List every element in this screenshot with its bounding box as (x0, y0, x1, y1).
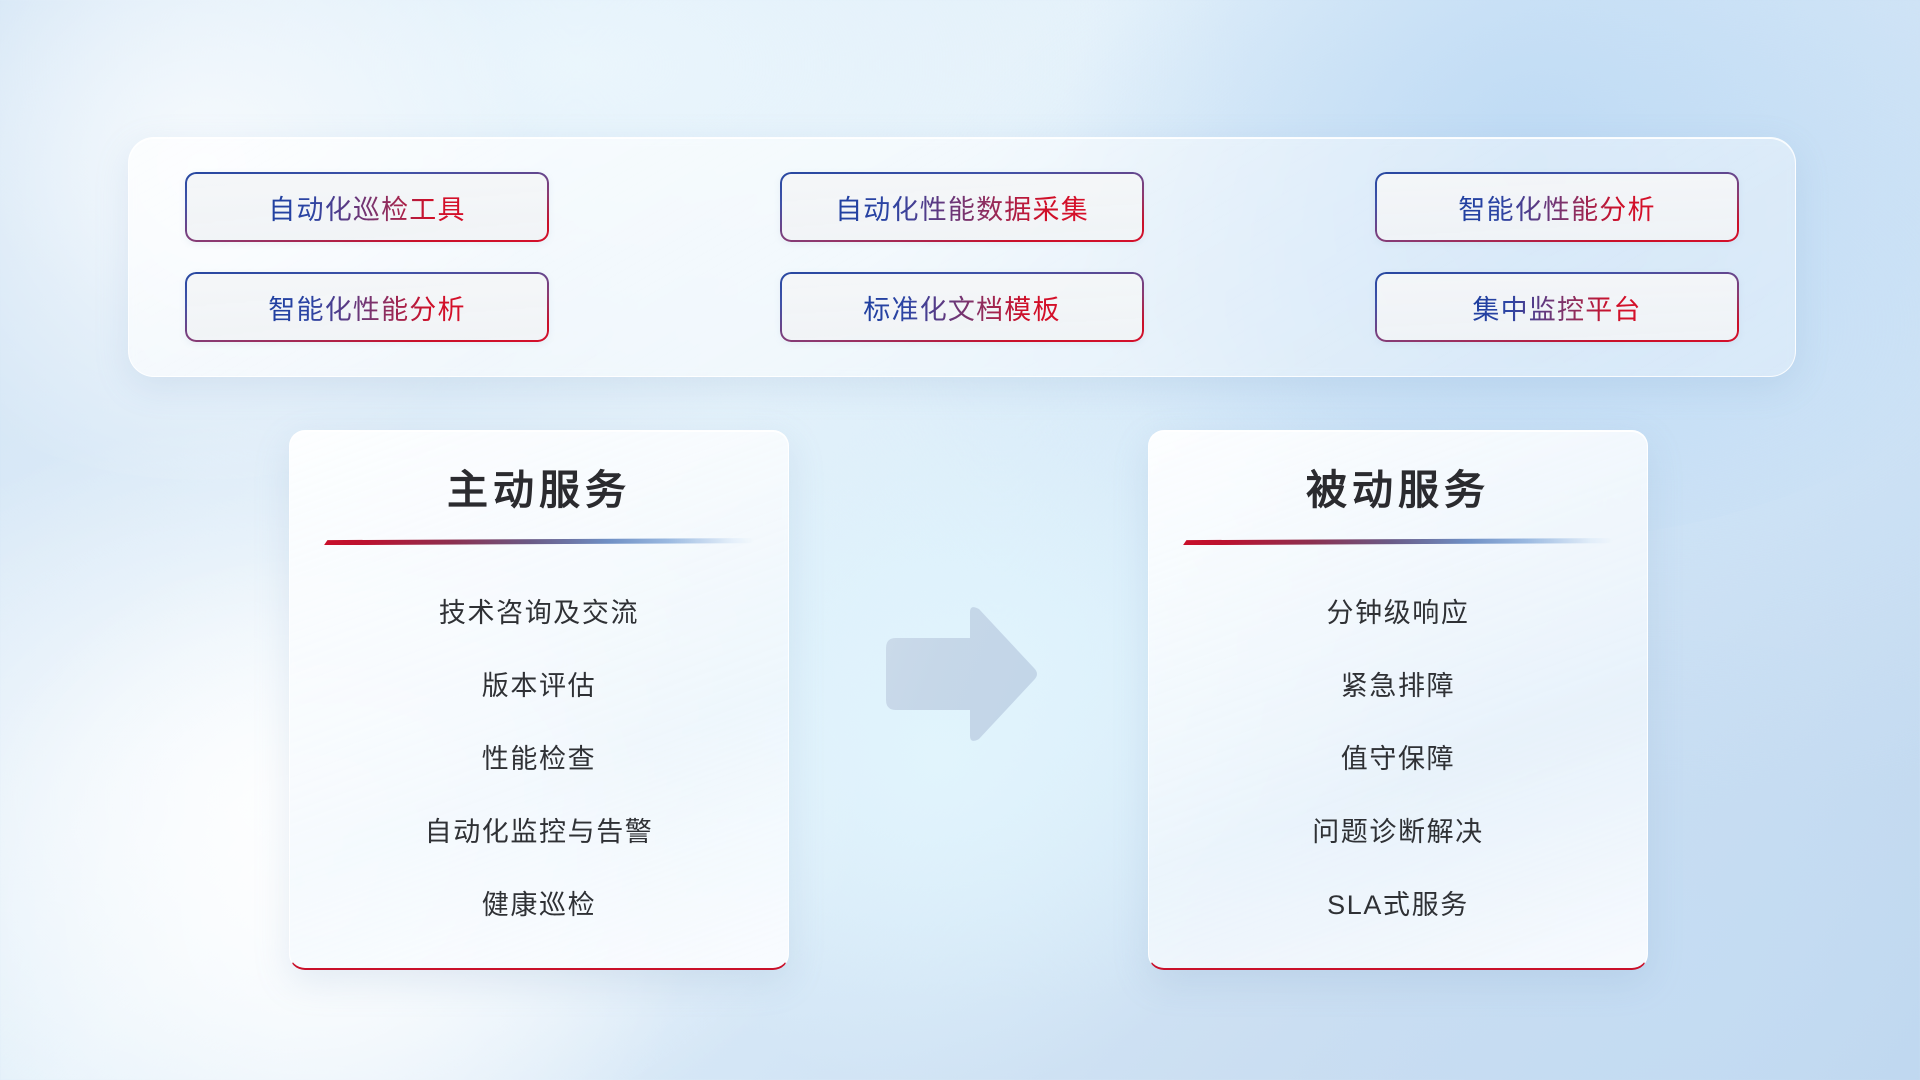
capability-tags-panel: 自动化巡检工具 自动化性能数据采集 智能化性能分析 智能化性能分析 标准化文档模… (128, 137, 1796, 377)
capability-tag-label: 自动化性能数据采集 (835, 188, 1089, 227)
capability-tag-standardized-document-template[interactable]: 标准化文档模板 (780, 272, 1144, 342)
service-list-item[interactable]: 健康巡检 (482, 869, 596, 942)
capability-tag-intelligent-performance-analysis[interactable]: 智能化性能分析 (1375, 172, 1739, 242)
service-list-item[interactable]: 版本评估 (482, 650, 596, 723)
card-title-divider (324, 538, 754, 545)
capability-tag-automated-inspection-tool[interactable]: 自动化巡检工具 (185, 172, 549, 242)
service-card-reactive: 被动服务 分钟级响应 紧急排障 值守保障 问题诊断解决 SLA式服务 (1148, 430, 1648, 970)
card-title: 主动服务 (447, 467, 631, 514)
service-list-item[interactable]: 性能检查 (482, 723, 596, 796)
card-title: 被动服务 (1306, 467, 1490, 514)
slide-stage: 自动化巡检工具 自动化性能数据采集 智能化性能分析 智能化性能分析 标准化文档模… (0, 0, 1920, 1080)
service-item-list: 技术咨询及交流 版本评估 性能检查 自动化监控与告警 健康巡检 (324, 577, 754, 942)
capability-tag-label: 自动化巡检工具 (268, 188, 465, 227)
capability-tags-row-1: 自动化巡检工具 自动化性能数据采集 智能化性能分析 (185, 172, 1739, 242)
capability-tag-label: 智能化性能分析 (1458, 188, 1655, 227)
service-list-item[interactable]: SLA式服务 (1327, 869, 1469, 942)
service-list-item[interactable]: 分钟级响应 (1327, 577, 1470, 650)
capability-tag-centralized-monitoring-platform[interactable]: 集中监控平台 (1375, 272, 1739, 342)
service-list-item[interactable]: 值守保障 (1341, 723, 1455, 796)
service-list-item[interactable]: 技术咨询及交流 (439, 577, 639, 650)
arrow-right-icon (880, 604, 1040, 744)
capability-tag-intelligent-performance-analysis-2[interactable]: 智能化性能分析 (185, 272, 549, 342)
capability-tag-label: 标准化文档模板 (863, 288, 1060, 327)
capability-tag-label: 智能化性能分析 (268, 288, 465, 327)
service-item-list: 分钟级响应 紧急排障 值守保障 问题诊断解决 SLA式服务 (1183, 577, 1613, 942)
card-title-divider (1183, 538, 1613, 545)
capability-tag-label: 集中监控平台 (1472, 288, 1641, 327)
service-card-proactive: 主动服务 技术咨询及交流 版本评估 性能检查 自动化监控与告警 健康巡检 (289, 430, 789, 970)
service-list-item[interactable]: 紧急排障 (1341, 650, 1455, 723)
capability-tag-automated-performance-data-collection[interactable]: 自动化性能数据采集 (780, 172, 1144, 242)
service-list-item[interactable]: 自动化监控与告警 (425, 796, 654, 869)
capability-tags-row-2: 智能化性能分析 标准化文档模板 集中监控平台 (185, 272, 1739, 342)
service-list-item[interactable]: 问题诊断解决 (1312, 796, 1484, 869)
